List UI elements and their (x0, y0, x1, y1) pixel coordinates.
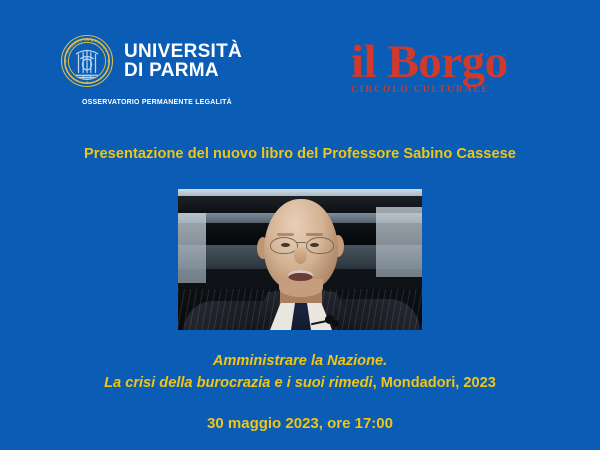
book-publisher-year: , Mondadori, 2023 (373, 375, 496, 391)
book-title-line2: La crisi della burocrazia e i suoi rimed… (0, 372, 600, 394)
university-name-line2: DI PARMA (124, 61, 242, 80)
event-poster: S T V D I O R V M P A R M (0, 0, 600, 450)
logo-row: S T V D I O R V M P A R M (0, 0, 600, 122)
university-observatory-subtitle: OSSERVATORIO PERMANENTE LEGALITÀ (82, 97, 248, 106)
university-seal-icon: S T V D I O R V M P A R M (60, 34, 114, 88)
university-logo-main: S T V D I O R V M P A R M (60, 34, 260, 88)
university-logo: S T V D I O R V M P A R M (60, 34, 260, 106)
book-title-line1: Amministrare la Nazione. (0, 350, 600, 372)
svg-text:S: S (87, 37, 89, 41)
university-name: UNIVERSITÀ DI PARMA (124, 42, 242, 81)
speaker-portrait-photo (178, 189, 422, 330)
borgo-logo: il Borgo CIRCOLO CULTURALE (351, 40, 551, 95)
borgo-subtitle: CIRCOLO CULTURALE (351, 85, 551, 95)
book-title-block: Amministrare la Nazione. La crisi della … (0, 350, 600, 394)
event-datetime: 30 maggio 2023, ore 17:00 (0, 415, 600, 432)
book-subtitle: La crisi della burocrazia e i suoi rimed… (104, 375, 372, 391)
borgo-name: il Borgo (351, 40, 551, 84)
poster-headline: Presentazione del nuovo libro del Profes… (0, 146, 600, 162)
university-name-line1: UNIVERSITÀ (124, 41, 242, 62)
portrait-subject (178, 189, 422, 330)
microphone-icon (325, 315, 334, 324)
